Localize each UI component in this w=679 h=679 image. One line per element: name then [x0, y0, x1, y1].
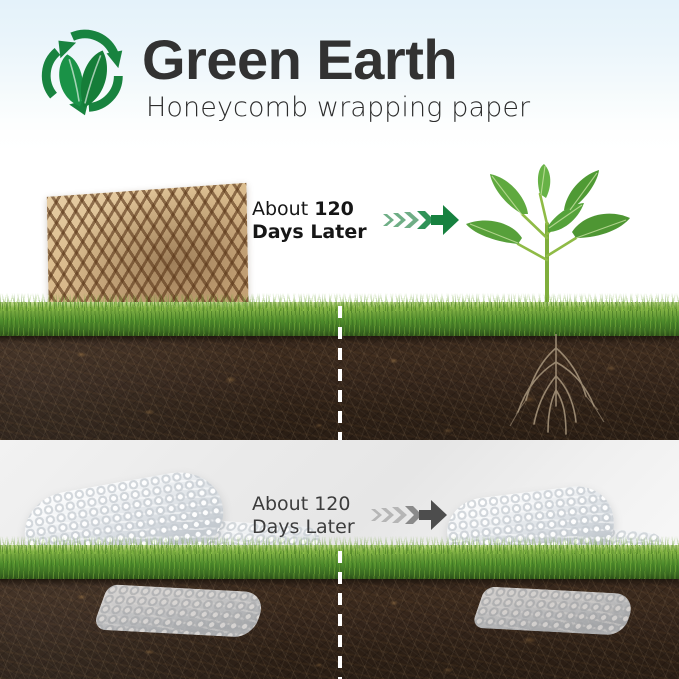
recycle-leaves-logo-icon [28, 21, 136, 129]
arrow-right-gray-icon [369, 498, 449, 537]
page-subtitle: Honeycomb wrapping paper [146, 92, 530, 123]
dashed-divider-plastic [338, 551, 342, 679]
product-infographic: Green Earth Honeycomb wrapping paper [0, 0, 679, 679]
brand-text-block: Green Earth Honeycomb wrapping paper [142, 29, 530, 123]
caption-line-2: Days Later [252, 221, 367, 244]
caption-about-label: About [252, 198, 314, 220]
arrow-right-green-icon [381, 203, 461, 242]
caption-compostable: About 120 Days Later [252, 198, 461, 244]
caption-line-1: About 120 [252, 493, 355, 516]
brand-header: Green Earth Honeycomb wrapping paper [0, 0, 679, 152]
caption-line-1: About 120 [252, 198, 367, 221]
plastic-bubble-wrap-submerged-left [92, 584, 268, 638]
panel-compostable: About 120 Days Later [0, 152, 679, 440]
dashed-divider-compostable [338, 306, 342, 440]
caption-plastic: About 120 Days Later [252, 493, 449, 539]
caption-compostable-text: About 120 Days Later [252, 198, 367, 244]
caption-days-number: 120 [314, 198, 354, 220]
panel-plastic: About 120 Days Later [0, 440, 679, 679]
caption-line-2: Days Later [252, 516, 355, 539]
page-title: Green Earth [142, 31, 530, 88]
plastic-bubble-wrap-submerged-right [471, 586, 637, 635]
caption-plastic-text: About 120 Days Later [252, 493, 355, 539]
